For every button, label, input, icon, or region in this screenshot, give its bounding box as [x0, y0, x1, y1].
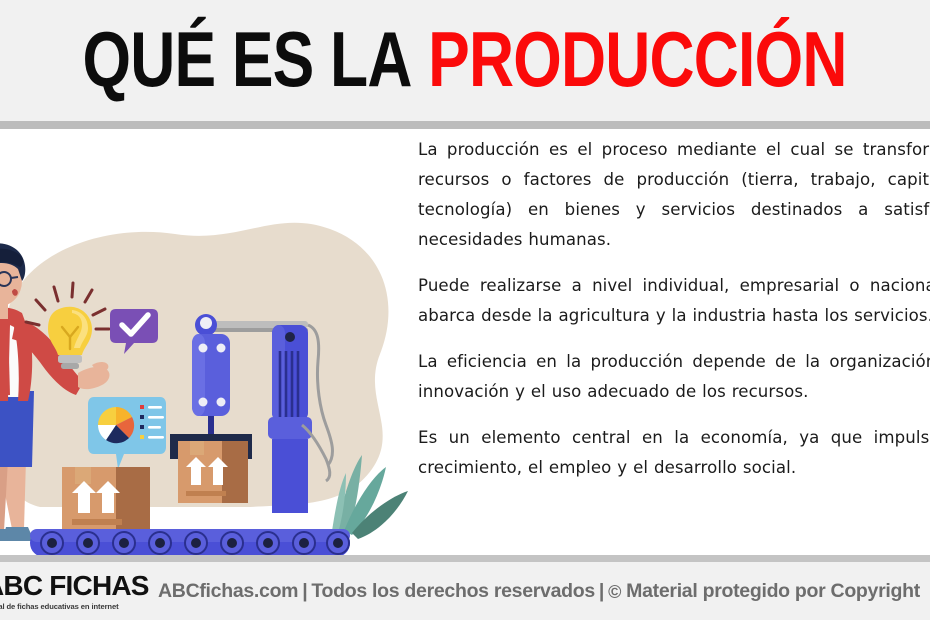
logo-tagline: portal de fichas educativas en internet — [0, 603, 144, 611]
paragraph-2: Puede realizarse a nivel individual, emp… — [418, 271, 930, 331]
footer-copyright-line: ABCfichas.com|Todos los derechos reserva… — [158, 580, 920, 603]
conveyor-rollers — [41, 532, 349, 554]
paragraph-1: La producción es el proceso mediante el … — [418, 135, 930, 255]
illustration-panel — [0, 129, 410, 555]
footer-separator-2: | — [595, 580, 608, 602]
title-divider — [0, 121, 930, 129]
paragraph-3: La eficiencia en la producción depende d… — [418, 347, 930, 407]
footer-rights: Todos los derechos reservados — [311, 580, 595, 602]
cardboard-box — [62, 467, 150, 533]
infographic-page: QUÉ ES LA PRODUCCIÓN — [0, 0, 930, 620]
conveyor-belt — [30, 529, 350, 555]
description-text-column: La producción es el proceso mediante el … — [418, 135, 930, 555]
copyright-icon: © — [608, 582, 621, 603]
footer-separator-1: | — [298, 580, 311, 602]
logo-wordmark: ABC FICHAS — [0, 572, 144, 600]
title-banner: QUÉ ES LA PRODUCCIÓN — [0, 0, 930, 121]
page-title: QUÉ ES LA PRODUCCIÓN — [83, 20, 847, 98]
content-card: La producción es el proceso mediante el … — [0, 129, 930, 555]
cardboard-box-suspended — [178, 441, 248, 503]
title-red-part: PRODUCCIÓN — [412, 15, 847, 103]
title-black-part: QUÉ ES LA — [83, 15, 412, 103]
logo-abc: ABC — [0, 570, 42, 601]
footer-site: ABCfichas.com — [158, 580, 298, 602]
footer-bar: ABC FICHAS portal de fichas educativas e… — [0, 562, 930, 620]
footer-divider — [0, 555, 930, 562]
footer-protected: Material protegido por Copyright — [626, 580, 920, 602]
logo-fichas: FICHAS — [42, 570, 148, 601]
abcfichas-logo: ABC FICHAS portal de fichas educativas e… — [0, 572, 144, 611]
pie-chart — [98, 407, 134, 443]
paragraph-4: Es un elemento central en la economía, y… — [418, 423, 930, 483]
